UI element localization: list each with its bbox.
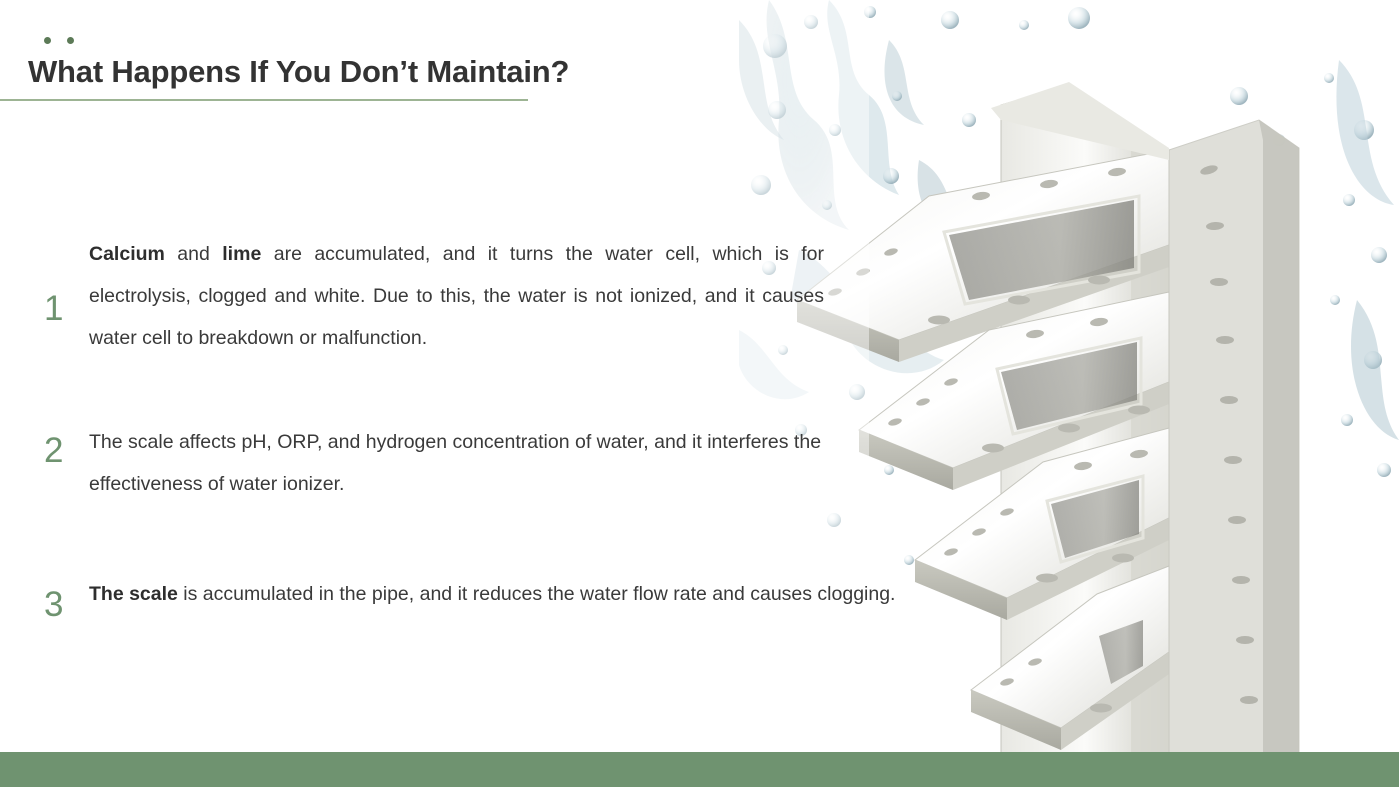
list-item-text: The scale affects pH, ORP, and hydrogen … [89, 421, 849, 505]
decor-dots [40, 33, 110, 49]
list-item-text: Calcium and lime are accumulated, and it… [89, 233, 824, 359]
page-title: What Happens If You Don’t Maintain? [28, 54, 569, 90]
list-item-bold-lead: The scale [89, 583, 178, 605]
list-item-number: 2 [44, 433, 84, 468]
list-item: 1 Calcium and lime are accumulated, and … [0, 233, 930, 359]
decor-dot-1 [44, 37, 51, 44]
list-item-bold-lead: Calcium [89, 243, 165, 265]
list-item-rest: The scale affects pH, ORP, and hydrogen … [89, 431, 821, 495]
slide-root: What Happens If You Don’t Maintain? 1 Ca… [0, 0, 1399, 787]
numbered-list: 1 Calcium and lime are accumulated, and … [0, 215, 930, 633]
decor-dot-2 [67, 37, 74, 44]
list-item-mid: and [165, 243, 222, 265]
list-item-bold-lead2: lime [222, 243, 261, 265]
bottom-accent-bar [0, 752, 1399, 787]
list-item: 2 The scale affects pH, ORP, and hydroge… [0, 421, 930, 505]
list-item-number: 3 [44, 587, 84, 622]
list-item-text: The scale is accumulated in the pipe, an… [89, 573, 909, 615]
list-item-number: 1 [44, 291, 84, 326]
list-item-rest: is accumulated in the pipe, and it reduc… [178, 583, 896, 605]
title-underline-rule [0, 99, 528, 101]
list-item: 3 The scale is accumulated in the pipe, … [0, 573, 930, 633]
